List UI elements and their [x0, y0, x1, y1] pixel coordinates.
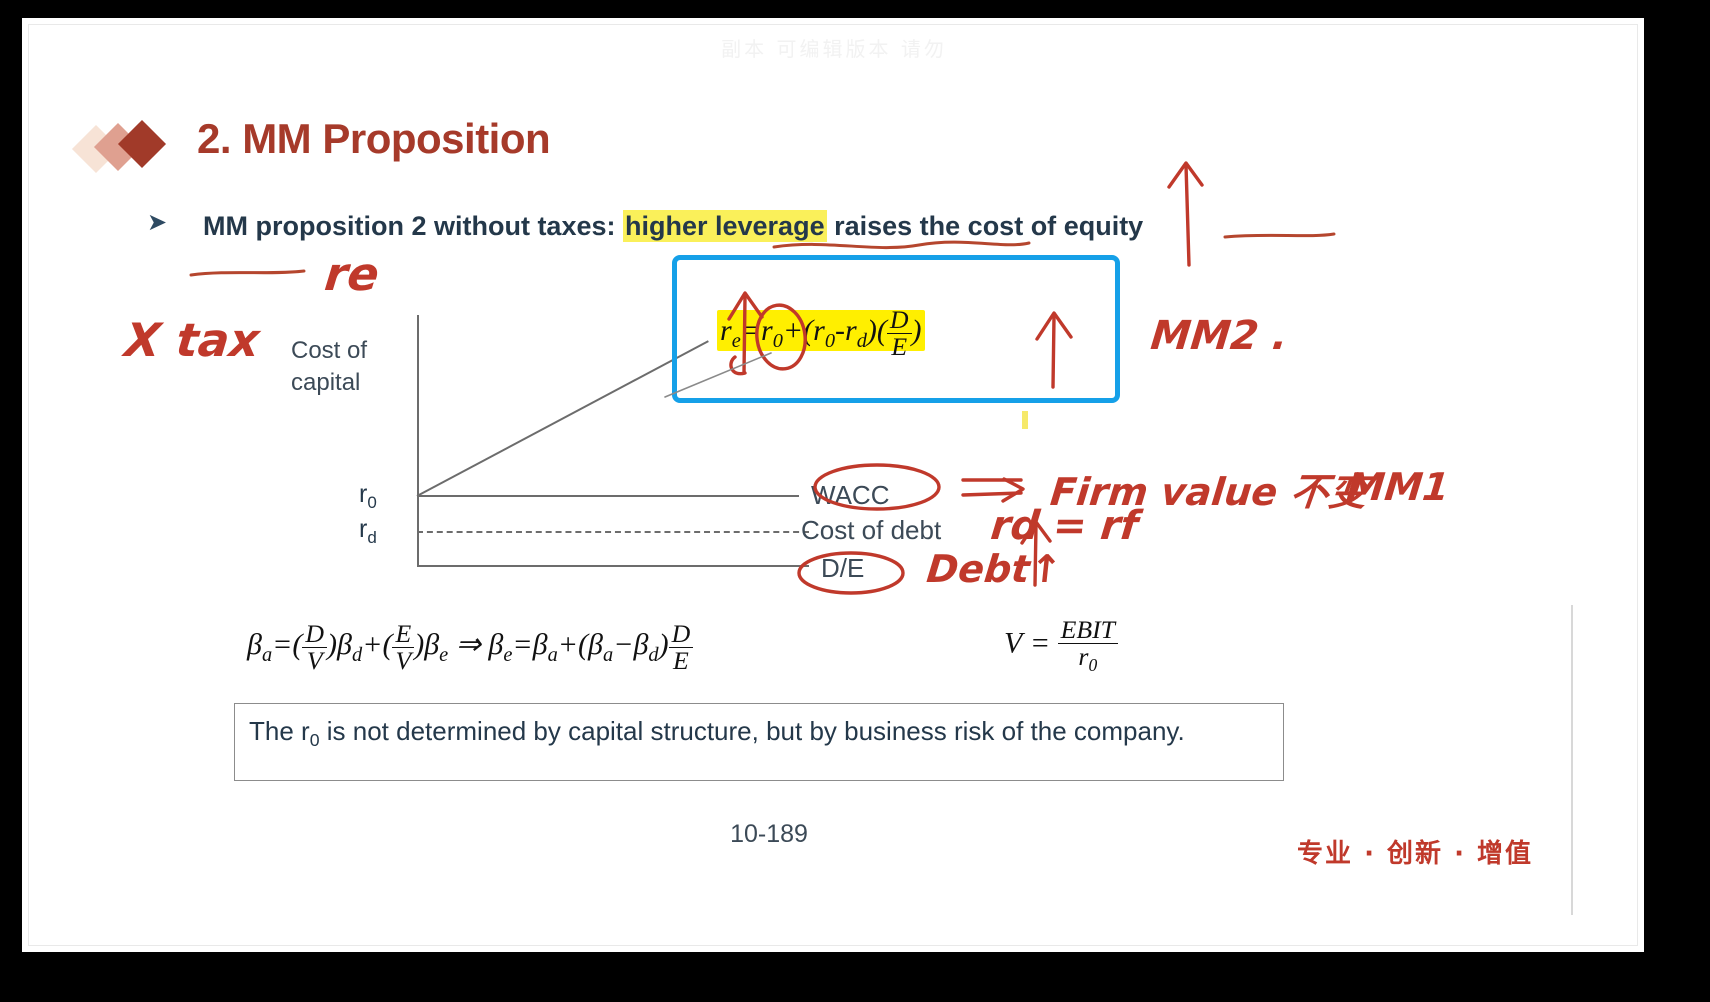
mm2-t3: r: [845, 314, 857, 347]
firm-value-formula: V = EBITr0: [1004, 617, 1118, 675]
arrow-debt-up: [1035, 525, 1036, 585]
underline-equity: [191, 271, 304, 275]
mm2-t1: r: [761, 314, 773, 347]
diamond-bullet-icon: [79, 123, 189, 175]
beta-e1-sub: e: [439, 644, 448, 666]
mm2-open: (: [803, 314, 813, 347]
beta-a3: β: [588, 628, 603, 661]
mm2-fraction-de: DE: [887, 307, 912, 360]
annotation-mm1: MM1: [1345, 465, 1452, 509]
chart-y-axis: [417, 315, 419, 567]
annotation-x-tax: X tax: [122, 313, 262, 367]
implies-arrow-head: [1003, 479, 1023, 501]
screen-root: 副本 可编辑版本 请勿 2. MM Proposition ➤ MM propo…: [0, 0, 1710, 1002]
implies-arrow-2: [963, 493, 1021, 495]
bullet-highlight: higher leverage: [623, 210, 827, 242]
annotation-debt-up: Debt↑: [925, 547, 1064, 591]
note-text-pre: The r: [249, 716, 310, 746]
beta-frac-dv-den: V: [302, 648, 327, 674]
mm2-plus: +: [783, 314, 803, 347]
beta-frac-ev: EV: [392, 621, 414, 674]
slide-right-divider: [1571, 605, 1573, 915]
mm2-t2: r: [813, 314, 825, 347]
mm2-fraction-den: E: [887, 334, 912, 360]
bullet-text-equity: equity: [1064, 211, 1144, 241]
page-title: 2. MM Proposition: [197, 115, 550, 163]
letterbox-top: [0, 0, 1710, 18]
chart-tick-r0-sub: 0: [367, 493, 376, 512]
beta-a: β: [247, 628, 262, 661]
watermark-text: 副本 可编辑版本 请勿: [29, 33, 1638, 62]
mm2-lhs-sub: e: [732, 330, 741, 352]
beta-a-sub: a: [262, 644, 272, 666]
beta-e1: β: [424, 628, 439, 661]
mm2-lhs: r: [720, 314, 732, 347]
v-lhs: V: [1004, 627, 1022, 660]
v-fraction-den: r0: [1058, 644, 1118, 675]
chart-tick-r0: r0: [359, 480, 377, 513]
mm2-fraction-num: D: [887, 307, 912, 334]
chart-line-wacc: [417, 495, 799, 497]
slide-right-margin: [1571, 25, 1637, 946]
chart-line-cost-of-equity: [417, 340, 709, 497]
mm2-minus: -: [835, 314, 845, 347]
beta-frac-de-num: D: [669, 621, 694, 648]
chart-y-axis-label-line1: Cost of: [291, 335, 401, 367]
mm2-formula-highlight: re=r0+(r0-rd)(DE): [717, 310, 925, 351]
annotation-rd-equals-rf: rd = rf: [989, 503, 1141, 549]
mm2-equals: =: [741, 314, 761, 347]
annotation-mm2: MM2 .: [1149, 313, 1290, 359]
page-number: 10-189: [29, 820, 1509, 849]
mm2-t3-sub: d: [857, 330, 867, 352]
beta-a2-sub: a: [548, 644, 558, 666]
beta-a2: β: [533, 628, 548, 661]
chart-x-axis: [417, 565, 809, 567]
chart-line-cost-of-debt: [417, 531, 809, 533]
beta-a3-sub: a: [603, 644, 613, 666]
v-fraction-num: EBIT: [1058, 617, 1118, 644]
note-text: The r0 is not determined by capital stru…: [249, 714, 1269, 757]
slide-page: 副本 可编辑版本 请勿 2. MM Proposition ➤ MM propo…: [22, 18, 1644, 952]
beta-e2: β: [488, 628, 503, 661]
bullet-text: MM proposition 2 without taxes: higher l…: [203, 203, 1373, 249]
v-eq: =: [1030, 627, 1050, 660]
beta-eq1: =: [272, 628, 292, 661]
beta-eq2: =: [512, 628, 532, 661]
arrow-cost-of-equity-head: [1169, 163, 1202, 187]
note-box: The r0 is not determined by capital stru…: [234, 703, 1284, 781]
note-text-post: is not determined by capital structure, …: [320, 716, 1185, 746]
beta-frac-dv: DV: [302, 621, 327, 674]
mini-highlight-mark: [1022, 411, 1028, 429]
beta-d: β: [337, 628, 352, 661]
slide-content: 副本 可编辑版本 请勿 2. MM Proposition ➤ MM propo…: [28, 24, 1638, 946]
v-fraction-den-base: r: [1078, 642, 1088, 671]
beta-plus1: +: [362, 628, 382, 661]
mm2-close2: ): [912, 314, 922, 347]
arrow-bullet-icon: ➤: [147, 211, 167, 235]
beta-frac-ev-num: E: [392, 621, 414, 648]
beta-d2: β: [633, 628, 648, 661]
v-fraction: EBITr0: [1058, 617, 1118, 675]
beta-implies: ⇒: [456, 628, 481, 661]
bullet-text-part2: raises the cost of: [827, 211, 1064, 241]
chart-y-axis-label: Cost of capital: [291, 335, 401, 399]
beta-d-sub: d: [352, 644, 362, 666]
chart-label-wacc: WACC: [811, 480, 889, 511]
beta-frac-de-den: E: [669, 648, 694, 674]
chart-label-cost-of-debt: Cost of debt: [801, 515, 941, 546]
chart-label-de: D/E: [821, 553, 864, 584]
mm2-t2-sub: 0: [825, 330, 835, 352]
annotation-re: re: [322, 247, 382, 301]
note-text-sub: 0: [310, 730, 320, 750]
arrow-debt-up-head: [1022, 522, 1050, 543]
annotation-firm-value: Firm value 不变: [1048, 461, 1370, 516]
beta-frac-dv-num: D: [302, 621, 327, 648]
beta-d2-sub: d: [648, 644, 658, 666]
brand-slogan: 专业 · 创新 · 增值: [1297, 833, 1533, 870]
chart-tick-rd-sub: d: [367, 528, 376, 547]
beta-frac-de: DE: [669, 621, 694, 674]
mm2-close: )(: [867, 314, 887, 347]
beta-plus2: +: [558, 628, 578, 661]
mm2-t1-sub: 0: [773, 330, 783, 352]
chart-y-axis-label-line2: capital: [291, 367, 401, 399]
chart-tick-rd: rd: [359, 515, 377, 548]
beta-frac-ev-den: V: [392, 648, 414, 674]
bullet-text-part1: MM proposition 2 without taxes:: [203, 211, 623, 241]
v-fraction-den-sub: 0: [1088, 655, 1097, 675]
beta-formula: βa=(DV)βd+(EV)βe ⇒ βe=βa+(βa−βd)DE: [247, 621, 693, 674]
letterbox-bottom: [0, 952, 1710, 1002]
mm2-formula: re=r0+(r0-rd)(DE): [717, 307, 925, 360]
